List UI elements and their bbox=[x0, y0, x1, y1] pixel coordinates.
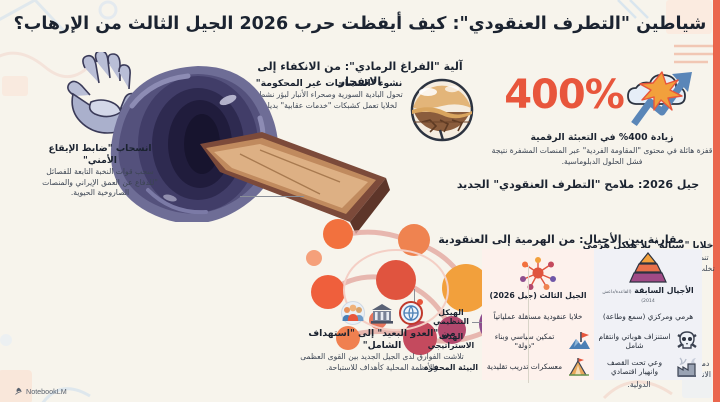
cell-text: خلايا عنقودية مستقلة عملياتياً bbox=[485, 312, 591, 321]
table-header-label bbox=[420, 249, 482, 306]
table-cell-old-structure: هرمي ومركزي (سمع وطاعة) bbox=[594, 306, 702, 328]
table-header-row: الأجيال السابقة (القاعدة/داعش 2014) bbox=[420, 249, 702, 306]
cluster-network-icon bbox=[518, 256, 558, 290]
branding: NotebookLM bbox=[14, 387, 67, 396]
flag-mountain-icon bbox=[567, 330, 591, 352]
cell-text: استنزاف هوباتي وانتقام شامل bbox=[597, 332, 672, 351]
table-row: وعي تحت القصف وانهيار اقتصادي bbox=[420, 354, 702, 380]
table-cell-new-goal: تمكين سياسي وبناء "دولة" bbox=[482, 328, 594, 354]
stat-block-digital-mobilization: 400% زيادة 400% في التعبئة الرقمية قفزة … bbox=[488, 62, 716, 167]
stat-subtext: قفزة هائلة في محتوى "المقاومة الفردية" ع… bbox=[488, 146, 716, 167]
table-row-label-structure: الهيكل التنظيمي bbox=[420, 306, 482, 328]
block-body-security: سحب قوات النخبة التابعة للفصائل "للدفاع … bbox=[36, 167, 164, 199]
pyramid-hierarchy-icon bbox=[625, 251, 671, 285]
table-header-old: الأجيال السابقة (القاعدة/داعش 2014) bbox=[594, 249, 702, 306]
table-cell-old-environment: وعي تحت القصف وانهيار اقتصادي bbox=[594, 354, 702, 380]
table-divider bbox=[528, 265, 529, 383]
comparison-table: الأجيال السابقة (القاعدة/داعش 2014) bbox=[420, 249, 702, 380]
table-cell-new-environment: معسكرات تدريب تقليدية bbox=[482, 354, 594, 380]
table-header-new-title: الجيل الثالث (جيل 2026) bbox=[489, 291, 586, 300]
block-title-security: انسحاب "ضابط الإيقاع الأمني" bbox=[36, 143, 164, 167]
table-header-new: الجيل الثالث (جيل 2026) bbox=[482, 249, 594, 306]
table-cell-new-structure: خلايا عنقودية مستقلة عملياتياً bbox=[482, 306, 594, 328]
table-row-label-environment: البيئة المحفزة bbox=[420, 354, 482, 380]
cell-text: وعي تحت القصف وانهيار اقتصادي bbox=[597, 358, 672, 377]
notebooklm-icon bbox=[14, 387, 23, 396]
infographic-canvas: شياطين "التطرف العنقودي": كيف أيقظت حرب … bbox=[0, 0, 720, 402]
table-cell-old-goal: استنزاف هوباتي وانتقام شامل bbox=[594, 328, 702, 354]
cracked-desert-ground-icon bbox=[410, 78, 474, 142]
cell-text: معسكرات تدريب تقليدية bbox=[485, 362, 564, 371]
connector-line-shard bbox=[240, 196, 304, 197]
block-security-officer-withdrawal: انسحاب "ضابط الإيقاع الأمني" سحب قوات ال… bbox=[36, 143, 164, 199]
cell-text: تمكين سياسي وبناء "دولة" bbox=[485, 332, 564, 351]
section-heading-generation-2026: جيل 2026: ملامح "التطرف العنقودي" الجديد bbox=[440, 178, 716, 193]
page-title: شياطين "التطرف العنقودي": كيف أيقظت حرب … bbox=[0, 14, 720, 34]
training-camp-tent-icon bbox=[567, 356, 591, 378]
skull-crossbones-icon bbox=[675, 330, 699, 352]
table-row: استنزاف هوباتي وانتقام شامل تمكين سياسي bbox=[420, 328, 702, 354]
civilians-group-icon bbox=[340, 300, 366, 326]
bombed-factory-icon bbox=[675, 356, 699, 378]
table-header-old-title: الأجيال السابقة bbox=[634, 286, 693, 295]
explosion-growth-arrow-icon bbox=[626, 62, 700, 128]
cell-text: هرمي ومركزي (سمع وطاعة) bbox=[597, 312, 699, 321]
table-row-label-goal: الهدف الاستراتيجي bbox=[420, 328, 482, 354]
government-building-icon bbox=[369, 300, 395, 326]
table-row: هرمي ومركزي (سمع وطاعة) خلايا عنقودية مس… bbox=[420, 306, 702, 328]
section-heading-comparison: مقارنة بين الأجيال: من الهرمية إلى العنق… bbox=[420, 233, 702, 248]
branding-text: NotebookLM bbox=[26, 387, 67, 396]
stat-caption: زيادة 400% في التعبئة الرقمية bbox=[488, 132, 716, 144]
stat-value: 400% bbox=[504, 75, 624, 115]
